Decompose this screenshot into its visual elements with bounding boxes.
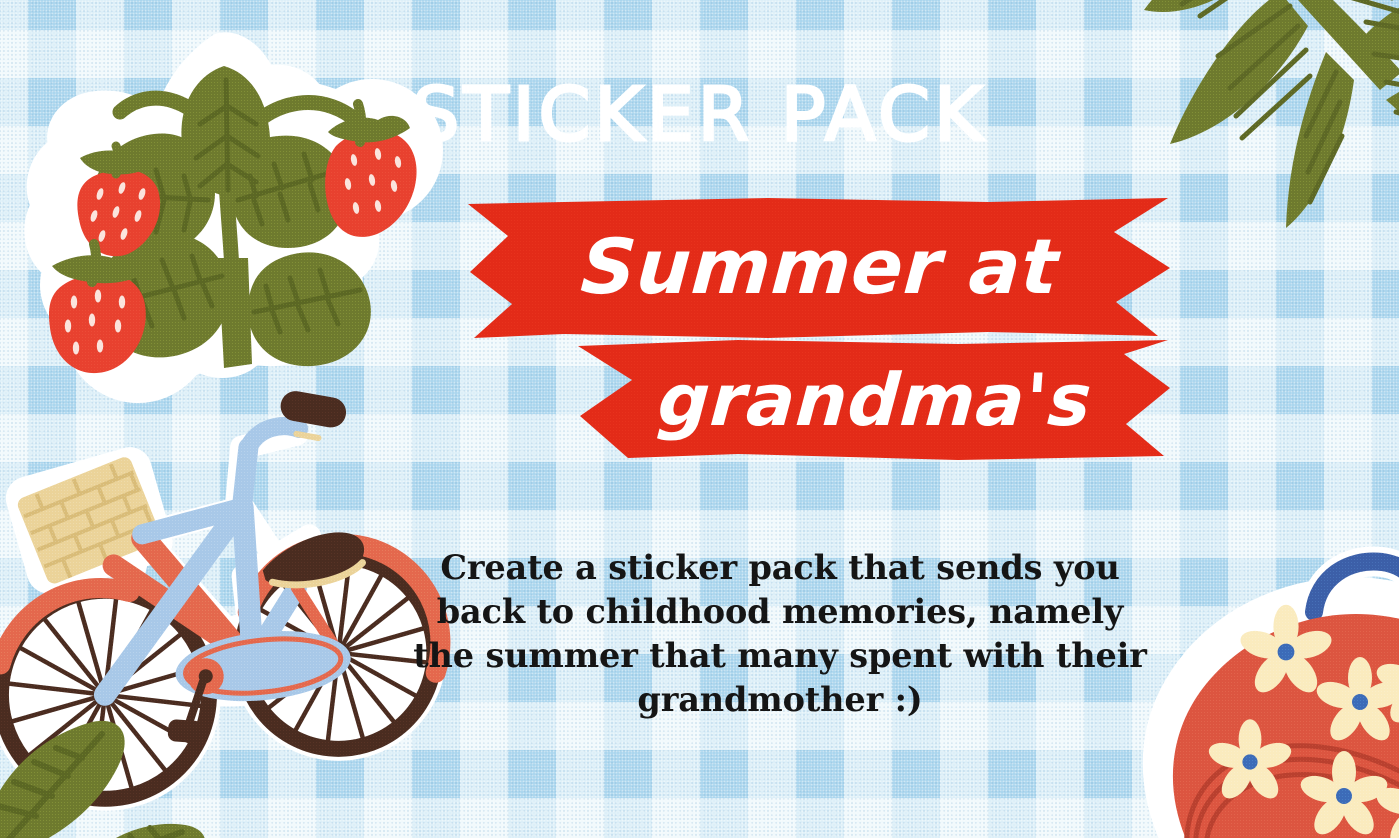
leaf-bottom-left (0, 700, 290, 838)
description-line-1: Create a sticker pack that sends you (396, 546, 1164, 590)
sticker-pack-poster: Sticker Pack Summer at grandma's Create … (0, 0, 1399, 838)
description-line-3: the summer that many spent with their (396, 634, 1164, 678)
page-title: Sticker Pack (0, 78, 1399, 152)
description-text: Create a sticker pack that sends you bac… (396, 546, 1164, 722)
description-line-4: grandmother :) (396, 678, 1164, 722)
description-line-2: back to childhood memories, namely (396, 590, 1164, 634)
title-banner-line-2: grandma's (578, 340, 1172, 464)
title-banner-line-1: Summer at (468, 196, 1172, 342)
